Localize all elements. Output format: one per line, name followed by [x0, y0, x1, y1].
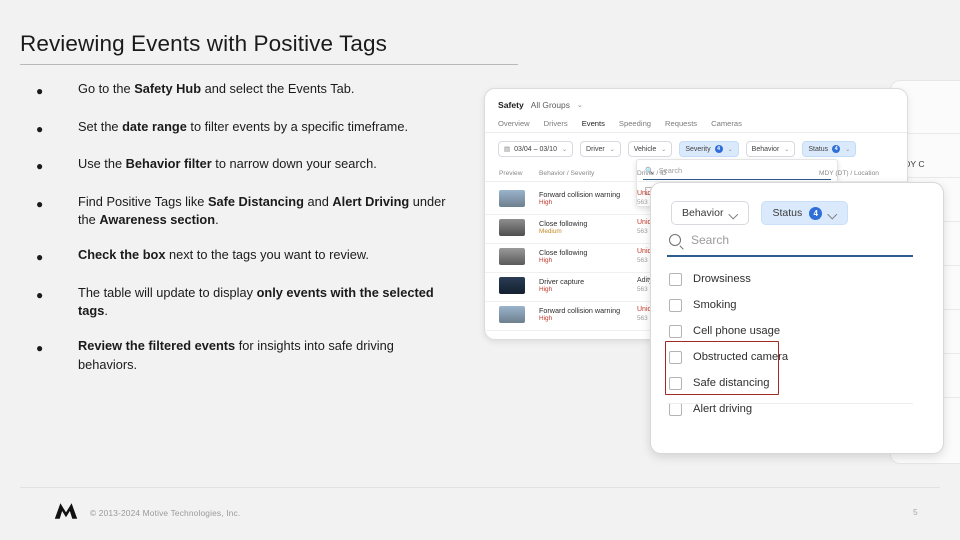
- bullet-marker: ●: [36, 155, 50, 176]
- behavior-option-label: Alert driving: [693, 403, 752, 415]
- list-item-text: Set the date range to filter events by a…: [50, 118, 408, 137]
- filter-chip-label: 03/04 – 03/10: [514, 146, 557, 153]
- behavior-option-label: Drowsiness: [693, 273, 751, 285]
- checkbox[interactable]: [669, 325, 682, 338]
- behavior-option-label: Smoking: [693, 299, 737, 311]
- behavior-chip-label: Behavior: [682, 207, 723, 219]
- event-driver-id: 563: [637, 286, 648, 293]
- event-thumbnail[interactable]: [499, 248, 525, 265]
- filter-chip-status[interactable]: Status4⌄: [802, 141, 856, 157]
- filter-chip-label: Behavior: [752, 146, 780, 153]
- filter-chip-label: Vehicle: [634, 146, 657, 153]
- checkbox[interactable]: [669, 351, 682, 364]
- list-item-text: The table will update to display only ev…: [50, 284, 456, 321]
- status-chip-label: Status: [772, 207, 802, 219]
- list-item: ●Go to the Safety Hub and select the Eve…: [36, 80, 456, 101]
- status-filter-chip[interactable]: Status 4: [761, 201, 848, 225]
- tabs-divider: [485, 132, 907, 133]
- chevron-down-icon: ⌄: [728, 146, 733, 153]
- status-count-badge: 4: [809, 207, 822, 220]
- event-severity: High: [539, 286, 552, 293]
- list-item: ●The table will update to display only e…: [36, 284, 456, 321]
- event-behavior: Close following: [539, 219, 587, 228]
- list-item: ●Review the filtered events for insights…: [36, 337, 456, 374]
- behavior-option-label: Safe distancing: [693, 377, 770, 389]
- motive-m-logo: [52, 500, 80, 522]
- filter-chip-label: Severity: [685, 146, 710, 153]
- search-underline: [667, 255, 913, 257]
- popover-filter-chips[interactable]: Behavior Status 4: [671, 201, 848, 225]
- chevron-down-icon: ⌄: [610, 146, 615, 153]
- checkbox[interactable]: [669, 377, 682, 390]
- chevron-down-icon: ⌄: [562, 146, 567, 153]
- list-item: ●Set the date range to filter events by …: [36, 118, 456, 139]
- nav-tabs[interactable]: OverviewDriversEventsSpeedingRequestsCam…: [498, 119, 742, 128]
- chevron-down-icon: [730, 211, 738, 216]
- bullet-marker: ●: [36, 80, 50, 101]
- column-header-driver: Driver / ID: [637, 170, 667, 177]
- behavior-option-smoking[interactable]: Smoking: [669, 297, 737, 313]
- list-item-text: Find Positive Tags like Safe Distancing …: [50, 193, 456, 230]
- event-thumbnail[interactable]: [499, 219, 525, 236]
- event-severity: High: [539, 315, 552, 322]
- bullet-marker: ●: [36, 284, 50, 305]
- bullet-marker: ●: [36, 246, 50, 267]
- behavior-options-panel: Search DrowsinessSmokingCell phone usage…: [657, 227, 921, 427]
- chevron-down-icon: ⌄: [661, 146, 666, 153]
- column-header-preview: Preview: [499, 170, 522, 177]
- search-icon: [669, 234, 681, 246]
- filter-chip-driver[interactable]: Driver⌄: [580, 141, 621, 157]
- event-driver-id: 563: [637, 228, 648, 235]
- chevron-down-icon: [829, 211, 837, 216]
- column-header-behavior: Behavior / Severity: [539, 170, 594, 177]
- list-item: ●Find Positive Tags like Safe Distancing…: [36, 193, 456, 230]
- behavior-filter-chip[interactable]: Behavior: [671, 201, 749, 225]
- title-divider: [20, 64, 518, 65]
- behavior-search-row[interactable]: Search: [669, 233, 729, 247]
- list-item-text: Go to the Safety Hub and select the Even…: [50, 80, 354, 99]
- bullet-marker: ●: [36, 118, 50, 139]
- behavior-option-cell-phone-usage[interactable]: Cell phone usage: [669, 323, 780, 339]
- tab-overview[interactable]: Overview: [498, 119, 530, 128]
- list-item: ●Use the Behavior filter to narrow down …: [36, 155, 456, 176]
- event-thumbnail[interactable]: [499, 306, 525, 323]
- tab-requests[interactable]: Requests: [665, 119, 697, 128]
- copyright-text: © 2013-2024 Motive Technologies, Inc.: [90, 508, 240, 518]
- app-header: Safety All Groups ⌄: [498, 100, 583, 110]
- bullet-marker: ●: [36, 193, 50, 214]
- filter-chip-label: Status: [808, 146, 828, 153]
- filter-chip-severity[interactable]: Severity4⌄: [679, 141, 738, 157]
- chevron-down-icon: ⌄: [845, 146, 850, 153]
- tab-events[interactable]: Events: [582, 119, 605, 128]
- filter-count-badge: 4: [715, 145, 723, 153]
- list-item: ●Check the box next to the tags you want…: [36, 246, 456, 267]
- event-thumbnail[interactable]: [499, 190, 525, 207]
- footer-divider: [20, 487, 940, 488]
- checkbox[interactable]: [669, 403, 682, 416]
- filter-chip-03-04-03-10[interactable]: ▤03/04 – 03/10⌄: [498, 141, 573, 157]
- event-behavior: Close following: [539, 248, 587, 257]
- tab-speeding[interactable]: Speeding: [619, 119, 651, 128]
- event-driver-id: 563: [637, 257, 648, 264]
- event-behavior: Forward collision warning: [539, 306, 620, 315]
- list-item-text: Use the Behavior filter to narrow down y…: [50, 155, 377, 174]
- chevron-down-icon[interactable]: ⌄: [577, 101, 583, 109]
- group-selector[interactable]: All Groups: [531, 100, 570, 110]
- calendar-icon: ▤: [504, 145, 510, 153]
- tab-cameras[interactable]: Cameras: [711, 119, 742, 128]
- search-placeholder: Search: [691, 233, 729, 247]
- behavior-option-label: Obstructed camera: [693, 351, 788, 363]
- filter-chip-vehicle[interactable]: Vehicle⌄: [628, 141, 673, 157]
- table-header: Preview Behavior / Severity Driver / ID …: [485, 167, 907, 181]
- behavior-filter-popover: Behavior Status 4 Search DrowsinessSmoki…: [650, 182, 944, 454]
- filter-chip-label: Driver: [586, 146, 605, 153]
- bullet-marker: ●: [36, 337, 50, 358]
- event-severity: Medium: [539, 228, 562, 235]
- filter-chip-behavior[interactable]: Behavior⌄: [746, 141, 796, 157]
- list-item-text: Check the box next to the tags you want …: [50, 246, 369, 265]
- checkbox[interactable]: [669, 299, 682, 312]
- instruction-list: ●Go to the Safety Hub and select the Eve…: [36, 80, 456, 391]
- list-item-text: Review the filtered events for insights …: [50, 337, 456, 374]
- behavior-option-obstructed-camera[interactable]: Obstructed camera: [669, 349, 788, 365]
- page-number: 5: [913, 507, 918, 517]
- list-divider: [667, 403, 913, 404]
- behavior-option-label: Cell phone usage: [693, 325, 780, 337]
- tab-drivers[interactable]: Drivers: [544, 119, 568, 128]
- screenshot-composite: MDY C 0/202 o, NY 0/202 0/202 N/A Safety…: [470, 80, 950, 480]
- event-driver-id: 563: [637, 199, 648, 206]
- event-thumbnail[interactable]: [499, 277, 525, 294]
- behavior-option-safe-distancing[interactable]: Safe distancing: [669, 375, 770, 391]
- chevron-down-icon: ⌄: [784, 146, 789, 153]
- checkbox[interactable]: [669, 273, 682, 286]
- event-driver-id: 563: [637, 315, 648, 322]
- column-header-mdy: MDY (DT) / Location: [819, 170, 879, 177]
- event-behavior: Driver capture: [539, 277, 584, 286]
- app-title: Safety: [498, 100, 524, 110]
- behavior-option-drowsiness[interactable]: Drowsiness: [669, 271, 751, 287]
- filter-bar[interactable]: ▤03/04 – 03/10⌄Driver⌄Vehicle⌄Severity4⌄…: [498, 141, 856, 157]
- page-title: Reviewing Events with Positive Tags: [20, 31, 387, 57]
- filter-count-badge: 4: [832, 145, 840, 153]
- event-severity: High: [539, 257, 552, 264]
- event-severity: High: [539, 199, 552, 206]
- event-behavior: Forward collision warning: [539, 190, 620, 199]
